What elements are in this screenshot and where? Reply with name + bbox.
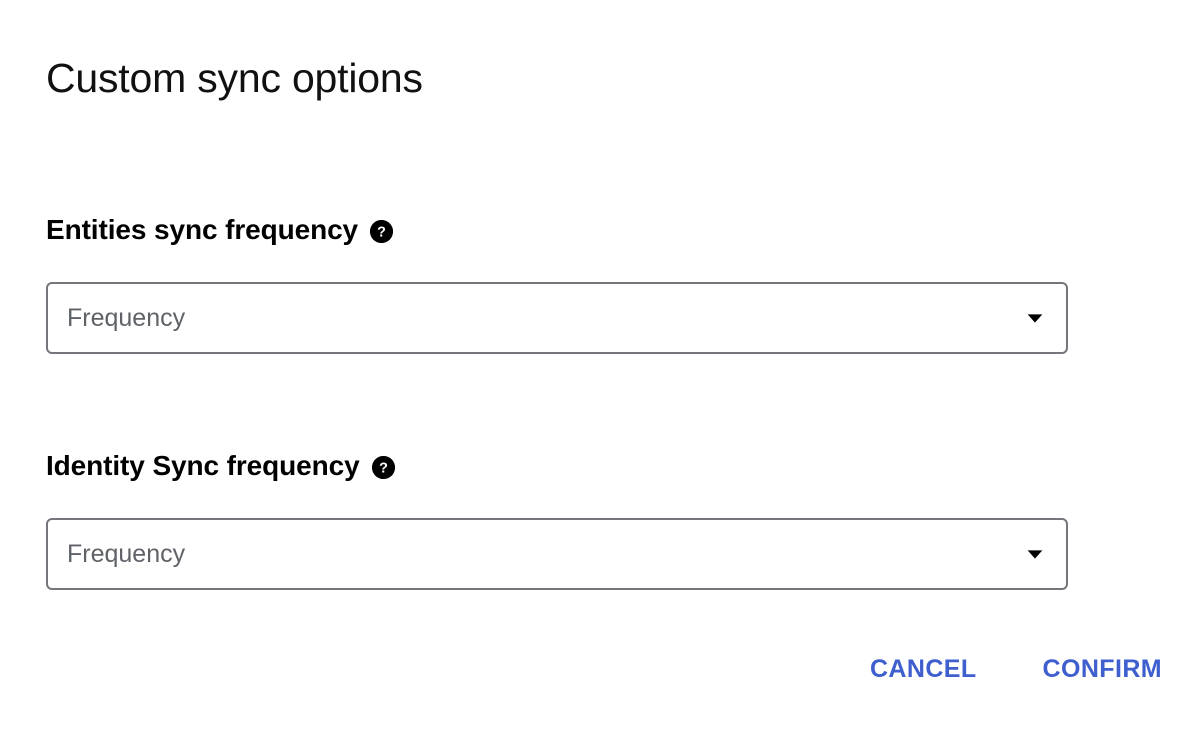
help-circle-icon[interactable]: ? bbox=[370, 220, 393, 243]
field-label-row: Identity Sync frequency ? bbox=[46, 447, 1068, 485]
chevron-down-icon[interactable] bbox=[1024, 543, 1046, 565]
custom-sync-options-dialog: Custom sync options Entities sync freque… bbox=[0, 0, 1196, 741]
page-title: Custom sync options bbox=[46, 50, 423, 106]
cancel-button[interactable]: CANCEL bbox=[870, 654, 977, 684]
identity-sync-frequency-select[interactable]: Frequency bbox=[46, 518, 1068, 590]
chevron-down-icon[interactable] bbox=[1024, 307, 1046, 329]
entities-sync-frequency-value: Frequency bbox=[67, 303, 185, 333]
svg-text:?: ? bbox=[377, 225, 386, 241]
field-group-identity-sync-frequency: Identity Sync frequency ? Frequency bbox=[46, 447, 1068, 590]
dialog-actions: CANCEL CONFIRM bbox=[0, 654, 1162, 684]
help-circle-icon[interactable]: ? bbox=[372, 456, 395, 479]
field-group-entities-sync-frequency: Entities sync frequency ? Frequency bbox=[46, 211, 1068, 354]
svg-text:?: ? bbox=[379, 461, 388, 477]
field-label-row: Entities sync frequency ? bbox=[46, 211, 1068, 249]
entities-sync-frequency-select[interactable]: Frequency bbox=[46, 282, 1068, 354]
confirm-button[interactable]: CONFIRM bbox=[1043, 654, 1162, 684]
identity-sync-frequency-label: Identity Sync frequency bbox=[46, 447, 360, 485]
identity-sync-frequency-value: Frequency bbox=[67, 539, 185, 569]
entities-sync-frequency-label: Entities sync frequency bbox=[46, 211, 358, 249]
